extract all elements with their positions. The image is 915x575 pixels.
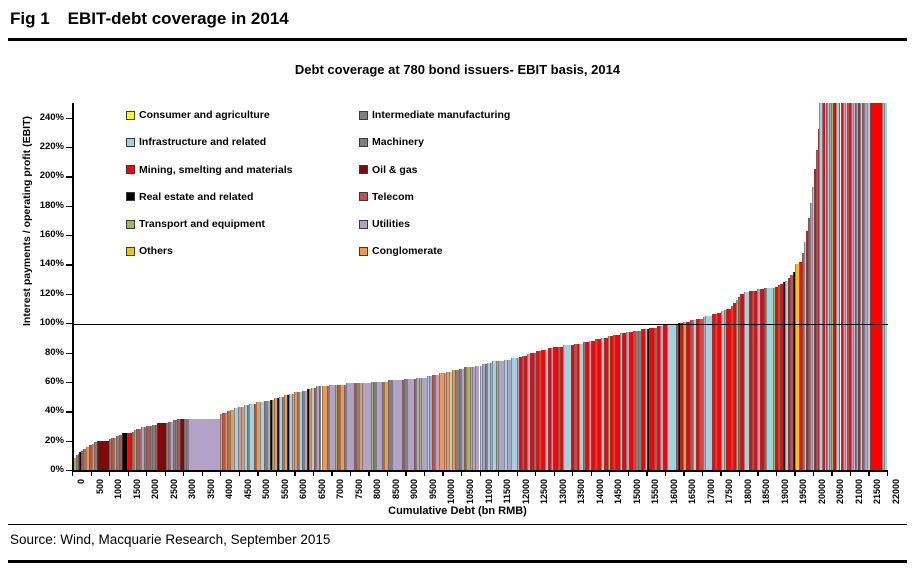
x-axis-tick [146, 470, 147, 476]
x-axis-tick-label: 20000 [817, 479, 827, 504]
x-axis-tick-label: 12000 [521, 479, 531, 504]
y-axis-tick-label: 240% [20, 113, 64, 123]
legend-swatch-icon [126, 111, 135, 120]
x-axis-tick [331, 470, 332, 476]
x-axis-tick-label: 22000 [891, 479, 901, 504]
legend-item[interactable]: Machinery [359, 136, 424, 148]
source-text: Source: Wind, Macquarie Research, Septem… [10, 532, 330, 547]
legend-label: Mining, smelting and materials [139, 164, 292, 176]
legend-label: Utilities [372, 218, 410, 230]
legend-item[interactable]: Real estate and related [126, 191, 253, 203]
x-axis-tick [368, 470, 369, 476]
y-axis-line [72, 103, 74, 471]
chart-bar [563, 345, 572, 470]
x-axis-tick [535, 470, 536, 476]
chart-bar [392, 380, 402, 470]
x-axis-tick-label: 18000 [743, 479, 753, 504]
x-axis-tick [257, 470, 258, 476]
x-axis-tick [424, 470, 425, 476]
chart-bar [766, 288, 773, 470]
y-axis-tick-label: 140% [20, 259, 64, 269]
x-axis-tick [91, 470, 92, 476]
legend-row: Real estate and relatedTelecom [126, 191, 556, 218]
legend-row: Transport and equipmentUtilities [126, 218, 556, 245]
x-axis-tick [276, 470, 277, 476]
x-axis-tick-label: 10000 [446, 479, 456, 504]
legend-swatch-icon [359, 111, 368, 120]
x-axis-tick [554, 470, 555, 476]
x-axis-tick-label: 16500 [687, 479, 697, 504]
x-axis-tick-label: 14500 [613, 479, 623, 504]
x-axis-tick-label: 1500 [132, 479, 142, 499]
legend-swatch-icon [126, 220, 135, 229]
chart-bar [667, 325, 676, 470]
chart-bar [407, 379, 414, 470]
x-axis-tick [294, 470, 295, 476]
legend-item[interactable]: Others [126, 245, 173, 257]
x-axis-tick-label: 4500 [243, 479, 253, 499]
legend-label: Transport and equipment [139, 218, 265, 230]
y-axis-tick-label: 20% [20, 436, 64, 446]
x-axis-tick [313, 470, 314, 476]
legend-item[interactable]: Infrastructure and related [126, 136, 266, 148]
legend-label: Machinery [372, 136, 424, 148]
legend-row: Consumer and agricultureIntermediate man… [126, 109, 556, 136]
legend-swatch-icon [126, 247, 135, 256]
x-axis-tick [850, 470, 851, 476]
x-axis-tick [702, 470, 703, 476]
chart-bar [362, 383, 371, 470]
x-axis-tick [109, 470, 110, 476]
x-axis-tick-label: 12500 [539, 479, 549, 504]
legend-label: Real estate and related [139, 191, 253, 203]
x-axis-tick-label: 6000 [298, 479, 308, 499]
x-axis-tick [572, 470, 573, 476]
legend-item[interactable]: Consumer and agriculture [126, 109, 270, 121]
x-axis-tick-label: 11500 [502, 479, 512, 504]
y-axis-tick-label: 180% [20, 201, 64, 211]
x-axis-tick-label: 7500 [354, 479, 364, 499]
y-axis-tick-label: 40% [20, 406, 64, 416]
reference-line-100pct [72, 324, 888, 325]
x-axis-tick [794, 470, 795, 476]
y-axis-title: Interest payments / operating profit (EB… [21, 61, 33, 381]
x-axis-tick [387, 470, 388, 476]
x-axis-tick-label: 8500 [391, 479, 401, 499]
legend-swatch-icon [359, 192, 368, 201]
x-axis-tick [405, 470, 406, 476]
source-divider-top [8, 524, 907, 525]
x-axis-tick-label: 10500 [465, 479, 475, 504]
source-divider-bottom [8, 560, 907, 563]
legend-row: Mining, smelting and materialsOil & gas [126, 164, 556, 191]
x-axis-tick [776, 470, 777, 476]
x-axis-tick [461, 470, 462, 476]
chart-bar [346, 383, 354, 470]
x-axis-tick-label: 3000 [187, 479, 197, 499]
x-axis-tick-label: 17000 [706, 479, 716, 504]
x-axis-tick [868, 470, 869, 476]
x-axis-tick-label: 11000 [484, 479, 494, 504]
x-axis-title: Cumulative Debt (bn RMB) [0, 505, 915, 517]
x-axis-tick-label: 2000 [150, 479, 160, 499]
x-axis-tick-label: 3500 [206, 479, 216, 499]
legend-swatch-icon [126, 138, 135, 147]
x-axis-tick [165, 470, 166, 476]
y-axis-tick-label: 80% [20, 348, 64, 358]
legend-label: Telecom [372, 191, 414, 203]
x-axis-tick-label: 16000 [669, 479, 679, 504]
legend-swatch-icon [126, 165, 135, 174]
x-axis-tick [887, 470, 888, 476]
x-axis-tick-label: 13500 [576, 479, 586, 504]
legend-swatch-icon [359, 138, 368, 147]
x-axis-tick-label: 7000 [335, 479, 345, 499]
legend-label: Others [139, 245, 173, 257]
chart-bar [188, 419, 220, 470]
x-axis-tick-label: 17500 [724, 479, 734, 504]
x-axis-tick [128, 470, 129, 476]
x-axis-tick-label: 9500 [428, 479, 438, 499]
x-axis-tick [739, 470, 740, 476]
legend-item[interactable]: Oil & gas [359, 164, 418, 176]
x-axis-tick-label: 14000 [595, 479, 605, 504]
legend-swatch-icon [359, 220, 368, 229]
x-axis-tick-label: 8000 [372, 479, 382, 499]
y-axis-tick-label: 160% [20, 230, 64, 240]
x-axis-tick [757, 470, 758, 476]
legend-row: OthersConglomerate [126, 245, 556, 272]
x-axis-tick-label: 0 [76, 479, 86, 484]
legend-label: Oil & gas [372, 164, 418, 176]
legend-swatch-icon [359, 165, 368, 174]
x-axis-tick [646, 470, 647, 476]
x-axis-tick-label: 19500 [798, 479, 808, 504]
chart-canvas: Interest payments / operating profit (EB… [0, 0, 915, 575]
x-axis-tick-label: 500 [95, 479, 105, 494]
x-axis-tick-label: 21000 [854, 479, 864, 504]
x-axis-tick [683, 470, 684, 476]
legend-label: Infrastructure and related [139, 136, 266, 148]
legend-label: Intermediate manufacturing [372, 109, 510, 121]
x-axis-tick-label: 5500 [280, 479, 290, 499]
x-axis-tick-label: 1000 [113, 479, 123, 499]
x-axis-tick-label: 13000 [558, 479, 568, 504]
legend-item[interactable]: Transport and equipment [126, 218, 265, 230]
x-axis-tick-label: 21500 [872, 479, 882, 504]
x-axis-tick-label: 2500 [169, 479, 179, 499]
y-axis-tick-label: 60% [20, 377, 64, 387]
x-axis-tick [498, 470, 499, 476]
legend-label: Consumer and agriculture [139, 109, 270, 121]
y-axis-tick-label: 0% [20, 465, 64, 475]
x-axis-tick-label: 6500 [317, 479, 327, 499]
x-axis-tick [628, 470, 629, 476]
y-axis-tick-label: 200% [20, 171, 64, 181]
chart-bar [157, 423, 166, 470]
x-axis-tick-label: 9000 [409, 479, 419, 499]
x-axis-tick-label: 4000 [224, 479, 234, 499]
x-axis-tick-label: 18500 [761, 479, 771, 504]
legend-item[interactable]: Conglomerate [359, 245, 443, 257]
x-axis-tick [517, 470, 518, 476]
x-axis-tick [720, 470, 721, 476]
legend-label: Conglomerate [372, 245, 443, 257]
legend-item[interactable]: Mining, smelting and materials [126, 164, 292, 176]
x-axis-tick [665, 470, 666, 476]
chart-legend: Consumer and agricultureIntermediate man… [126, 109, 556, 273]
legend-item[interactable]: Telecom [359, 191, 414, 203]
x-axis-tick [183, 470, 184, 476]
x-axis-tick-label: 20500 [835, 479, 845, 504]
x-axis-tick [350, 470, 351, 476]
legend-item[interactable]: Intermediate manufacturing [359, 109, 510, 121]
chart-bar [884, 103, 887, 470]
x-axis-tick-label: 15000 [632, 479, 642, 504]
legend-row: Infrastructure and relatedMachinery [126, 136, 556, 163]
x-axis-tick [239, 470, 240, 476]
x-axis-tick [72, 470, 73, 476]
y-axis-tick-label: 100% [20, 318, 64, 328]
x-axis-tick [609, 470, 610, 476]
x-axis-tick [220, 470, 221, 476]
x-axis-tick-label: 19000 [780, 479, 790, 504]
x-axis-tick-label: 5000 [261, 479, 271, 499]
legend-swatch-icon [359, 247, 368, 256]
x-axis-tick [591, 470, 592, 476]
x-axis-tick [831, 470, 832, 476]
chart-bar [97, 441, 109, 470]
x-axis-tick [480, 470, 481, 476]
x-axis-tick [813, 470, 814, 476]
y-axis-tick-label: 220% [20, 142, 64, 152]
x-axis-tick-label: 15500 [650, 479, 660, 504]
chart-bar [870, 103, 882, 470]
x-axis-tick [442, 470, 443, 476]
legend-item[interactable]: Utilities [359, 218, 410, 230]
x-axis-tick [202, 470, 203, 476]
legend-swatch-icon [126, 192, 135, 201]
y-axis-tick-label: 120% [20, 289, 64, 299]
